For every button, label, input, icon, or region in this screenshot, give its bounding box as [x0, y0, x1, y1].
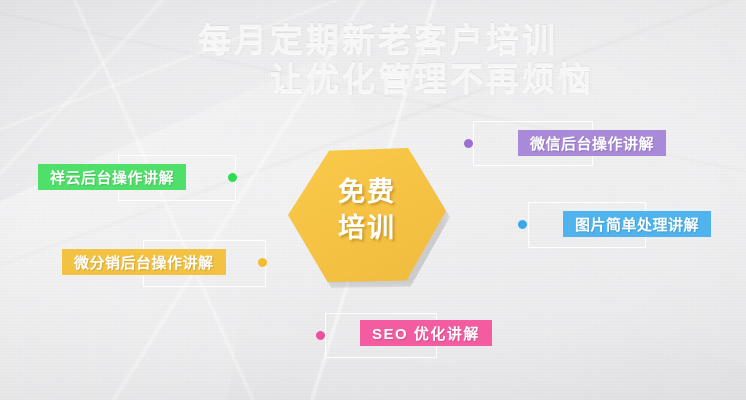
- free-training-hexagon: 免费 培训: [288, 148, 446, 282]
- hexagon-label: 免费 培训: [288, 174, 446, 246]
- topic-dot: [258, 258, 267, 267]
- topic-label: 祥云后台操作讲解: [38, 164, 186, 190]
- topic-label: SEO 优化讲解: [360, 320, 492, 346]
- topic-dot: [316, 331, 325, 340]
- topic-label: 微信后台操作讲解: [518, 130, 666, 156]
- poster-canvas: 每月定期新老客户培训 让优化管理不再烦恼 免费 培训 祥云后台操作讲解 微分销后…: [0, 0, 746, 400]
- topic-dot: [464, 139, 473, 148]
- hexagon-label-line-1: 免费: [288, 174, 446, 210]
- topic-label: 微分销后台操作讲解: [62, 249, 226, 275]
- hexagon-label-line-2: 培训: [288, 210, 446, 246]
- topic-label: 图片简单处理讲解: [563, 211, 711, 237]
- topic-dot: [518, 220, 527, 229]
- topic-dot: [228, 173, 237, 182]
